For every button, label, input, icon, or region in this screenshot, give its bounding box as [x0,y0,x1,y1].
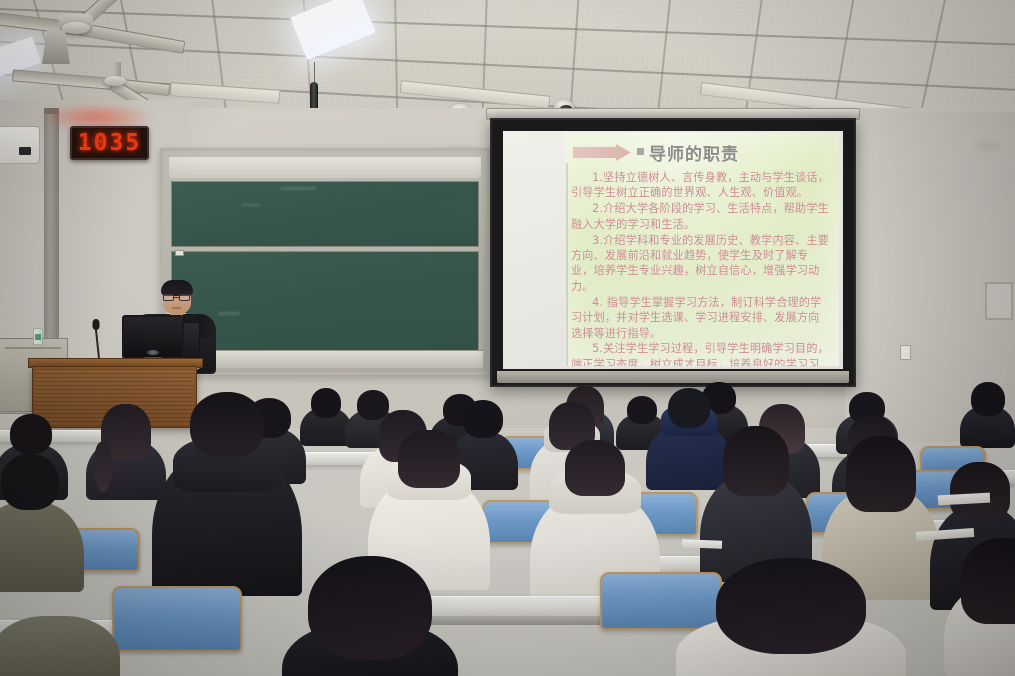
blackboard-panel-lower [171,251,479,355]
student [282,572,458,676]
wall-ac-unit [0,126,40,164]
slide-paragraph: 3.介绍学科和专业的发展历史、教学内容、主要方向、发展前沿和就业趋势，使学生及时… [571,233,829,295]
slide-body: 1.坚持立德树人、言传身教，主动与学生谈话，引导学生树立正确的世界观、人生观、价… [571,170,831,366]
water-bottle [33,328,43,345]
slide-paragraph: 1.坚持立德树人、言传身教，主动与学生谈话，引导学生树立正确的世界观、人生观、价… [571,170,829,201]
slide-paragraph: 5.关注学生学习过程，引导学生明确学习目的，端正学习态度，树立成才目标，培养良好… [571,341,829,366]
student [0,466,84,592]
projected-slide: 导师的职责 1.坚持立德树人、言传身教，主动与学生谈话，引导学生树立正确的世界观… [565,133,839,366]
wall-pillar [44,112,59,350]
slide-title: 导师的职责 [649,140,739,165]
classroom-scene: 1035 导师的职责 [0,0,1015,676]
clock-digits: 1035 [78,130,141,156]
slide-side-accent [566,163,568,366]
desktop-monitor[interactable] [122,315,184,359]
projection-screen-bottom-bar [497,371,849,383]
digital-wall-clock: 1035 [70,126,149,160]
blackboard-tag [175,250,184,256]
slide-paragraph: 2.介绍大学各阶段的学习、生活特点，帮助学生融入大学的学习和生活。 [571,201,829,232]
student [0,600,120,676]
student [152,400,302,596]
student [676,584,906,676]
slide-bullet-marker [637,148,644,155]
presenter-mouth [172,307,181,309]
blackboard-top-strip [169,157,481,178]
projection-screen-surface: 导师的职责 1.坚持立德树人、言传身教，主动与学生谈话，引导学生树立正确的世界观… [503,131,843,369]
light-switch[interactable] [900,345,911,360]
slide-title-row: 导师的职责 [571,139,831,166]
classroom-chair[interactable] [112,586,242,652]
eyeglasses-icon [163,294,191,301]
projection-screen: 导师的职责 1.坚持立德树人、言传身教，主动与学生谈话，引导学生树立正确的世界观… [490,118,856,387]
student [944,552,1015,676]
slide-content: 导师的职责 1.坚持立德树人、言传身教，主动与学生谈话，引导学生树立正确的世界观… [565,133,839,366]
slide-title-arrow-shape [573,144,631,161]
wall-vent-panel [985,282,1013,320]
notebook[interactable] [682,539,722,548]
slide-paragraph: 4. 指导学生掌握学习方法，制订科学合理的学习计划，并对学生选课、学习进程安排、… [571,295,829,341]
blackboard-panel-upper [171,181,479,247]
monitor-brand-logo [147,350,159,355]
student [960,388,1015,448]
